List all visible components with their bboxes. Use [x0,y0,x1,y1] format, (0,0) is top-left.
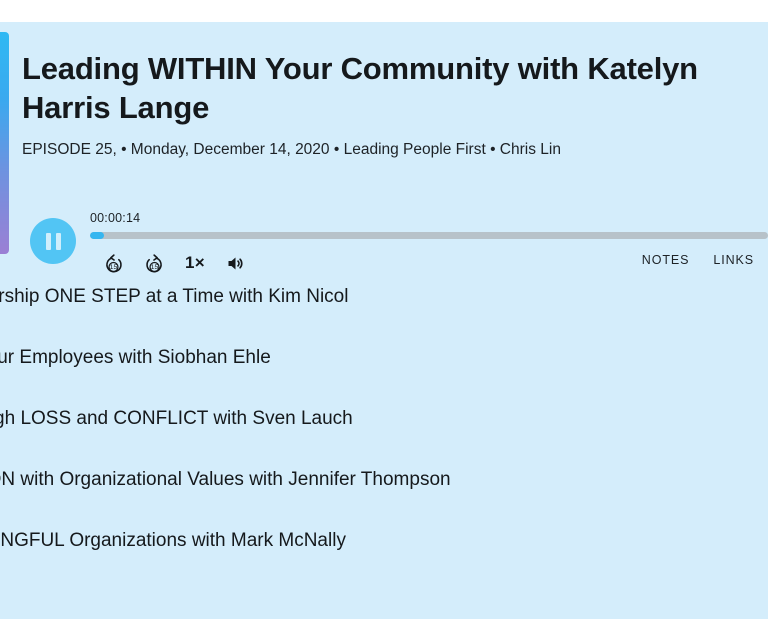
top-gutter [0,0,768,22]
notes-link[interactable]: NOTES [642,253,690,267]
list-item[interactable]: CTION with Organizational Values with Je… [0,449,768,510]
list-item[interactable]: EANINGFUL Organizations with Mark McNall… [0,510,768,571]
pause-bar-right [56,233,61,250]
list-item[interactable]: hrough LOSS and CONFLICT with Sven Lauch [0,388,768,449]
progress-scrubber[interactable] [90,232,768,239]
current-time-label: 00:00:14 [90,211,140,225]
pause-button[interactable] [30,218,76,264]
list-item[interactable]: eadership ONE STEP at a Time with Kim Ni… [0,266,768,327]
player-card: Leading WITHIN Your Community with Katel… [0,22,768,266]
episode-meta: EPISODE 25, • Monday, December 14, 2020 … [22,139,762,161]
list-item[interactable]: in Your Employees with Siobhan Ehle [0,327,768,388]
episode-list: eadership ONE STEP at a Time with Kim Ni… [0,266,768,571]
progress-fill [90,232,104,239]
pause-bar-left [46,233,51,250]
podcast-player-page: Leading WITHIN Your Community with Katel… [0,0,768,619]
card-links: NOTES LINKS [642,253,754,267]
page-title: Leading WITHIN Your Community with Katel… [22,49,742,127]
links-link[interactable]: LINKS [713,253,754,267]
